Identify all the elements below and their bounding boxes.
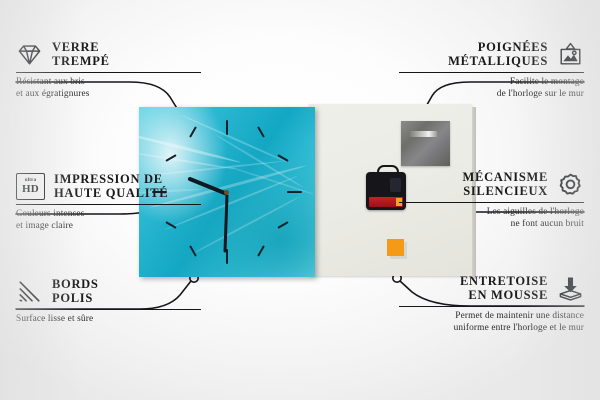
feature-verre-trempe[interactable]: VERRE TREMPÉ Résistant aux bris et aux é… <box>16 40 231 100</box>
feature-title-line2: EN MOUSSE <box>460 288 548 302</box>
arrow-down-onto-pad-icon <box>557 275 584 302</box>
tick-12 <box>226 120 228 135</box>
feature-title-line2: SILENCIEUX <box>463 184 548 198</box>
foam-spacer <box>387 239 404 256</box>
badge-hd-text: HD <box>22 184 39 195</box>
tick-10 <box>165 154 176 162</box>
feature-rule <box>399 202 584 203</box>
feature-bords-polis[interactable]: BORDS POLIS Surface lisse et sûre <box>16 277 231 326</box>
feature-desc-line2: uniforme entre l'horloge et le mur <box>369 323 584 334</box>
metal-hanger-plate <box>401 121 450 166</box>
feature-desc-line1: Résistant aux bris <box>16 77 231 88</box>
feature-desc-line2: de l'horloge sur le mur <box>369 89 584 100</box>
badge-ultra-text: ultra <box>25 178 37 183</box>
feature-desc-line2: et image claire <box>16 221 231 232</box>
tick-1 <box>257 126 265 137</box>
feature-title-line2: MÉTALLIQUES <box>448 54 548 68</box>
feature-impression-haute-qualite[interactable]: ultra HD IMPRESSION DE HAUTE QUALITÉ Cou… <box>16 172 231 232</box>
feature-desc-line1: Couleurs intenses <box>16 209 231 220</box>
feature-title-line2: HAUTE QUALITÉ <box>54 186 168 200</box>
feature-rule <box>16 72 201 73</box>
tick-3 <box>287 191 302 193</box>
feature-title-line2: TREMPÉ <box>52 54 110 68</box>
feature-rule <box>399 72 584 73</box>
gear-icon <box>557 171 584 198</box>
feature-desc-line2: ne font aucun bruit <box>369 219 584 230</box>
feature-rule <box>399 306 584 307</box>
diamond-icon <box>16 41 43 68</box>
feature-desc-line1: Facilite le montage <box>369 77 584 88</box>
hanging-picture-frame-icon <box>557 41 584 68</box>
feature-rule <box>16 204 201 205</box>
feature-title-line1: ENTRETOISE <box>460 274 548 288</box>
feature-poignees-metalliques[interactable]: POIGNÉES MÉTALLIQUES Facilite le montage… <box>369 40 584 100</box>
feature-rule <box>16 309 201 310</box>
tick-2 <box>277 154 288 162</box>
feature-desc-line1: Surface lisse et sûre <box>16 314 231 325</box>
feature-desc-line1: Les aiguilles de l'horloge <box>369 207 584 218</box>
feature-title-line1: VERRE <box>52 40 110 54</box>
ultra-hd-badge-icon: ultra HD <box>16 173 45 200</box>
diagonal-lines-icon <box>16 278 43 305</box>
feature-title-line1: MÉCANISME <box>463 170 548 184</box>
feature-desc-line2: et aux égratignures <box>16 89 231 100</box>
infographic-canvas: VERRE TREMPÉ Résistant aux bris et aux é… <box>0 0 600 400</box>
tick-5 <box>257 245 265 256</box>
feature-desc-line1: Permet de maintenir une distance <box>369 311 584 322</box>
feature-mecanisme-silencieux[interactable]: MÉCANISME SILENCIEUX Les aiguilles de l'… <box>369 170 584 230</box>
tick-11 <box>189 126 197 137</box>
feature-title-line1: BORDS <box>52 277 99 291</box>
feature-title-line2: POLIS <box>52 291 99 305</box>
feature-entretoise-en-mousse[interactable]: ENTRETOISE EN MOUSSE Permet de maintenir… <box>369 274 584 334</box>
tick-4 <box>277 221 288 229</box>
tick-7 <box>189 245 197 256</box>
feature-title-line1: POIGNÉES <box>448 40 548 54</box>
feature-title-line1: IMPRESSION DE <box>54 172 168 186</box>
